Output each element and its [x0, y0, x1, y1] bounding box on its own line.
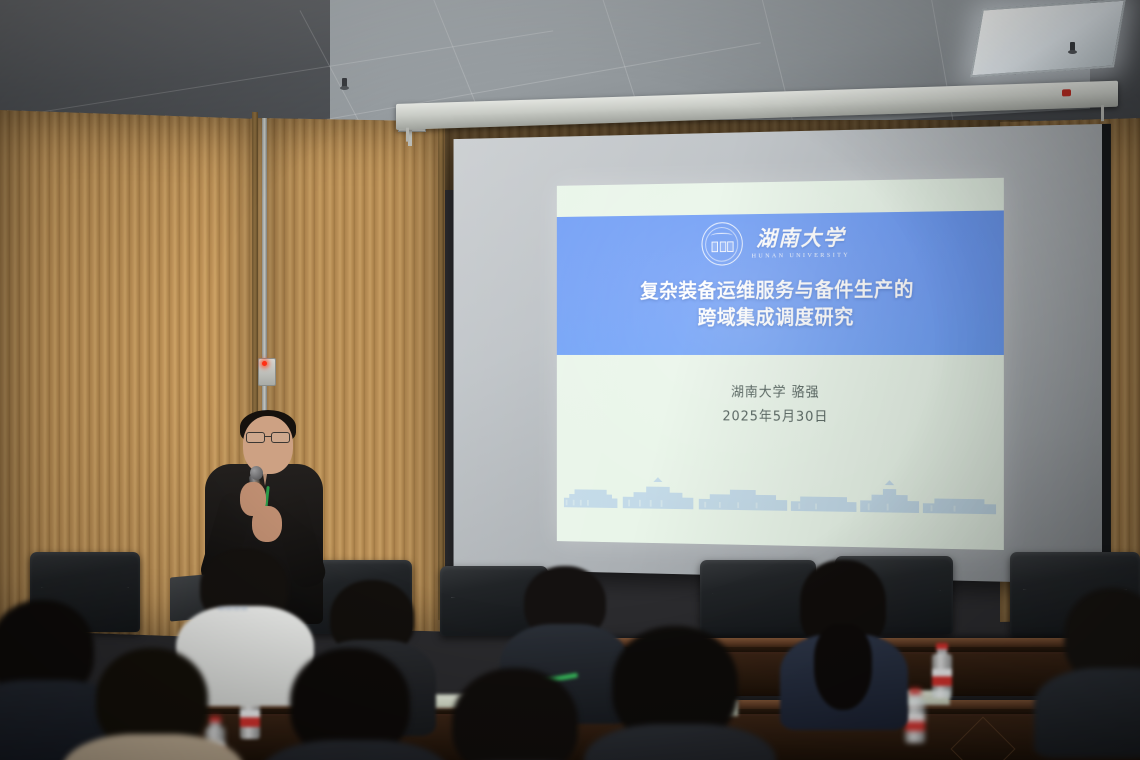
projection-screen: 湖南大学 HUNAN UNIVERSITY 复杂装备运维服务与备件生产的 跨域集… [454, 124, 1102, 584]
sprinkler-head-icon [340, 78, 349, 92]
bottle-label [932, 669, 952, 686]
wall-control-box [258, 358, 276, 386]
slide-title-line-2: 跨域集成调度研究 [557, 303, 1004, 332]
sprinkler-head-icon [1068, 42, 1077, 56]
bottle-label [240, 710, 260, 727]
presenter-head [243, 416, 293, 474]
chair [700, 560, 816, 636]
university-name-en: HUNAN UNIVERSITY [752, 251, 851, 259]
housing-brand-label [1062, 89, 1076, 96]
university-logo-block: 湖南大学 HUNAN UNIVERSITY [557, 218, 1004, 267]
desk-inlay-diamond [950, 716, 1015, 760]
projected-slide: 湖南大学 HUNAN UNIVERSITY 复杂装备运维服务与备件生产的 跨域集… [557, 178, 1004, 550]
slide-affiliation-speaker: 湖南大学 骆强 [557, 380, 1004, 406]
bottle-label [905, 714, 925, 731]
ceiling-light-fixture [970, 0, 1126, 77]
screen-hook [406, 128, 409, 142]
slide-date: 2025年5月30日 [557, 404, 1004, 431]
status-led-icon [262, 361, 267, 366]
wall-seam [438, 120, 444, 620]
hunan-university-seal-icon [701, 222, 742, 266]
seal-gate-icon [712, 236, 732, 252]
audience-head [452, 668, 578, 760]
slide-title-line-1: 复杂装备运维服务与备件生产的 [557, 275, 1004, 305]
university-name-cn: 湖南大学 [756, 227, 845, 249]
audience-torso [1034, 668, 1140, 758]
glasses-icon [246, 432, 290, 441]
university-name-block: 湖南大学 HUNAN UNIVERSITY [752, 227, 851, 259]
slide-author-block: 湖南大学 骆强 2025年5月30日 [557, 380, 1004, 430]
campus-skyline-graphic [557, 469, 1004, 516]
presentation-photo-scene: 湖南大学 HUNAN UNIVERSITY 复杂装备运维服务与备件生产的 跨域集… [0, 0, 1140, 760]
housing-logo-icon [1062, 89, 1071, 96]
audience-hair-long [814, 624, 872, 710]
slide-title: 复杂装备运维服务与备件生产的 跨域集成调度研究 [557, 275, 1004, 332]
screen-edge [1102, 124, 1111, 584]
tshirt-print: ▭▭▭▭ [218, 604, 278, 614]
presenter-hand-right [252, 506, 282, 542]
screen-hook [1101, 105, 1104, 121]
